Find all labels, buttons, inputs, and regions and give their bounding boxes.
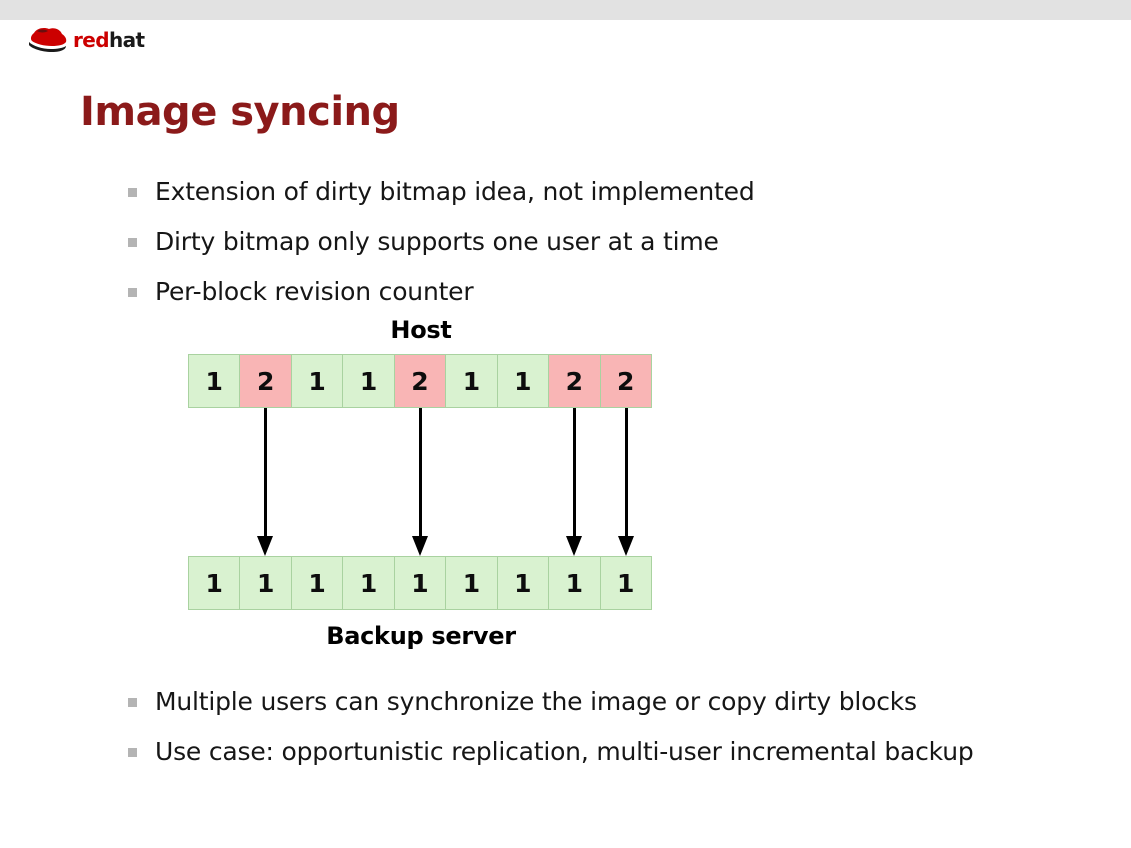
sync-arrow-from-cell-8 — [572, 408, 577, 556]
host-cell-9: 2 — [601, 355, 651, 407]
bullet-list-bottom: Multiple users can synchronize the image… — [128, 686, 1068, 786]
bullet-square-icon — [128, 238, 137, 247]
backup-cell-8: 1 — [549, 557, 600, 609]
list-item: Extension of dirty bitmap idea, not impl… — [128, 176, 1068, 208]
bullet-square-icon — [128, 748, 137, 757]
host-cell-6: 1 — [446, 355, 497, 407]
sync-arrow-from-cell-9 — [624, 408, 629, 556]
redhat-shadowman-icon — [26, 27, 70, 53]
backup-cell-4: 1 — [343, 557, 394, 609]
bullet-text: Multiple users can synchronize the image… — [155, 686, 917, 718]
sync-arrows — [188, 408, 652, 556]
host-block-row: 121121122 — [188, 354, 652, 408]
host-label: Host — [188, 318, 654, 342]
backup-cell-5: 1 — [395, 557, 446, 609]
backup-cell-3: 1 — [292, 557, 343, 609]
bullet-text: Extension of dirty bitmap idea, not impl… — [155, 176, 755, 208]
list-item: Per-block revision counter — [128, 276, 1068, 308]
bullet-list-top: Extension of dirty bitmap idea, not impl… — [128, 176, 1068, 326]
host-cell-5: 2 — [395, 355, 446, 407]
bullet-text: Dirty bitmap only supports one user at a… — [155, 226, 719, 258]
host-cell-2: 2 — [240, 355, 291, 407]
redhat-wordmark: redhat — [73, 30, 144, 50]
backup-cell-6: 1 — [446, 557, 497, 609]
backup-block-row: 111111111 — [188, 556, 652, 610]
host-cell-1: 1 — [189, 355, 240, 407]
logo-text-hat: hat — [109, 28, 145, 52]
backup-cell-7: 1 — [498, 557, 549, 609]
backup-cell-9: 1 — [601, 557, 651, 609]
backup-server-label: Backup server — [188, 624, 654, 648]
host-cell-7: 1 — [498, 355, 549, 407]
top-gray-bar — [0, 0, 1131, 20]
host-cell-3: 1 — [292, 355, 343, 407]
bullet-square-icon — [128, 288, 137, 297]
list-item: Use case: opportunistic replication, mul… — [128, 736, 1068, 768]
redhat-logo: redhat — [26, 24, 206, 56]
list-item: Multiple users can synchronize the image… — [128, 686, 1068, 718]
bullet-square-icon — [128, 188, 137, 197]
bullet-square-icon — [128, 698, 137, 707]
list-item: Dirty bitmap only supports one user at a… — [128, 226, 1068, 258]
bullet-text: Per-block revision counter — [155, 276, 473, 308]
bullet-text: Use case: opportunistic replication, mul… — [155, 736, 974, 768]
logo-text-red: red — [73, 28, 109, 52]
sync-arrow-from-cell-2 — [263, 408, 268, 556]
backup-cell-1: 1 — [189, 557, 240, 609]
page-title: Image syncing — [80, 92, 400, 132]
backup-cell-2: 1 — [240, 557, 291, 609]
host-cell-4: 1 — [343, 355, 394, 407]
sync-arrow-from-cell-5 — [418, 408, 423, 556]
image-syncing-diagram: Host 121121122 111111111 Backup server — [188, 318, 654, 648]
host-cell-8: 2 — [549, 355, 600, 407]
